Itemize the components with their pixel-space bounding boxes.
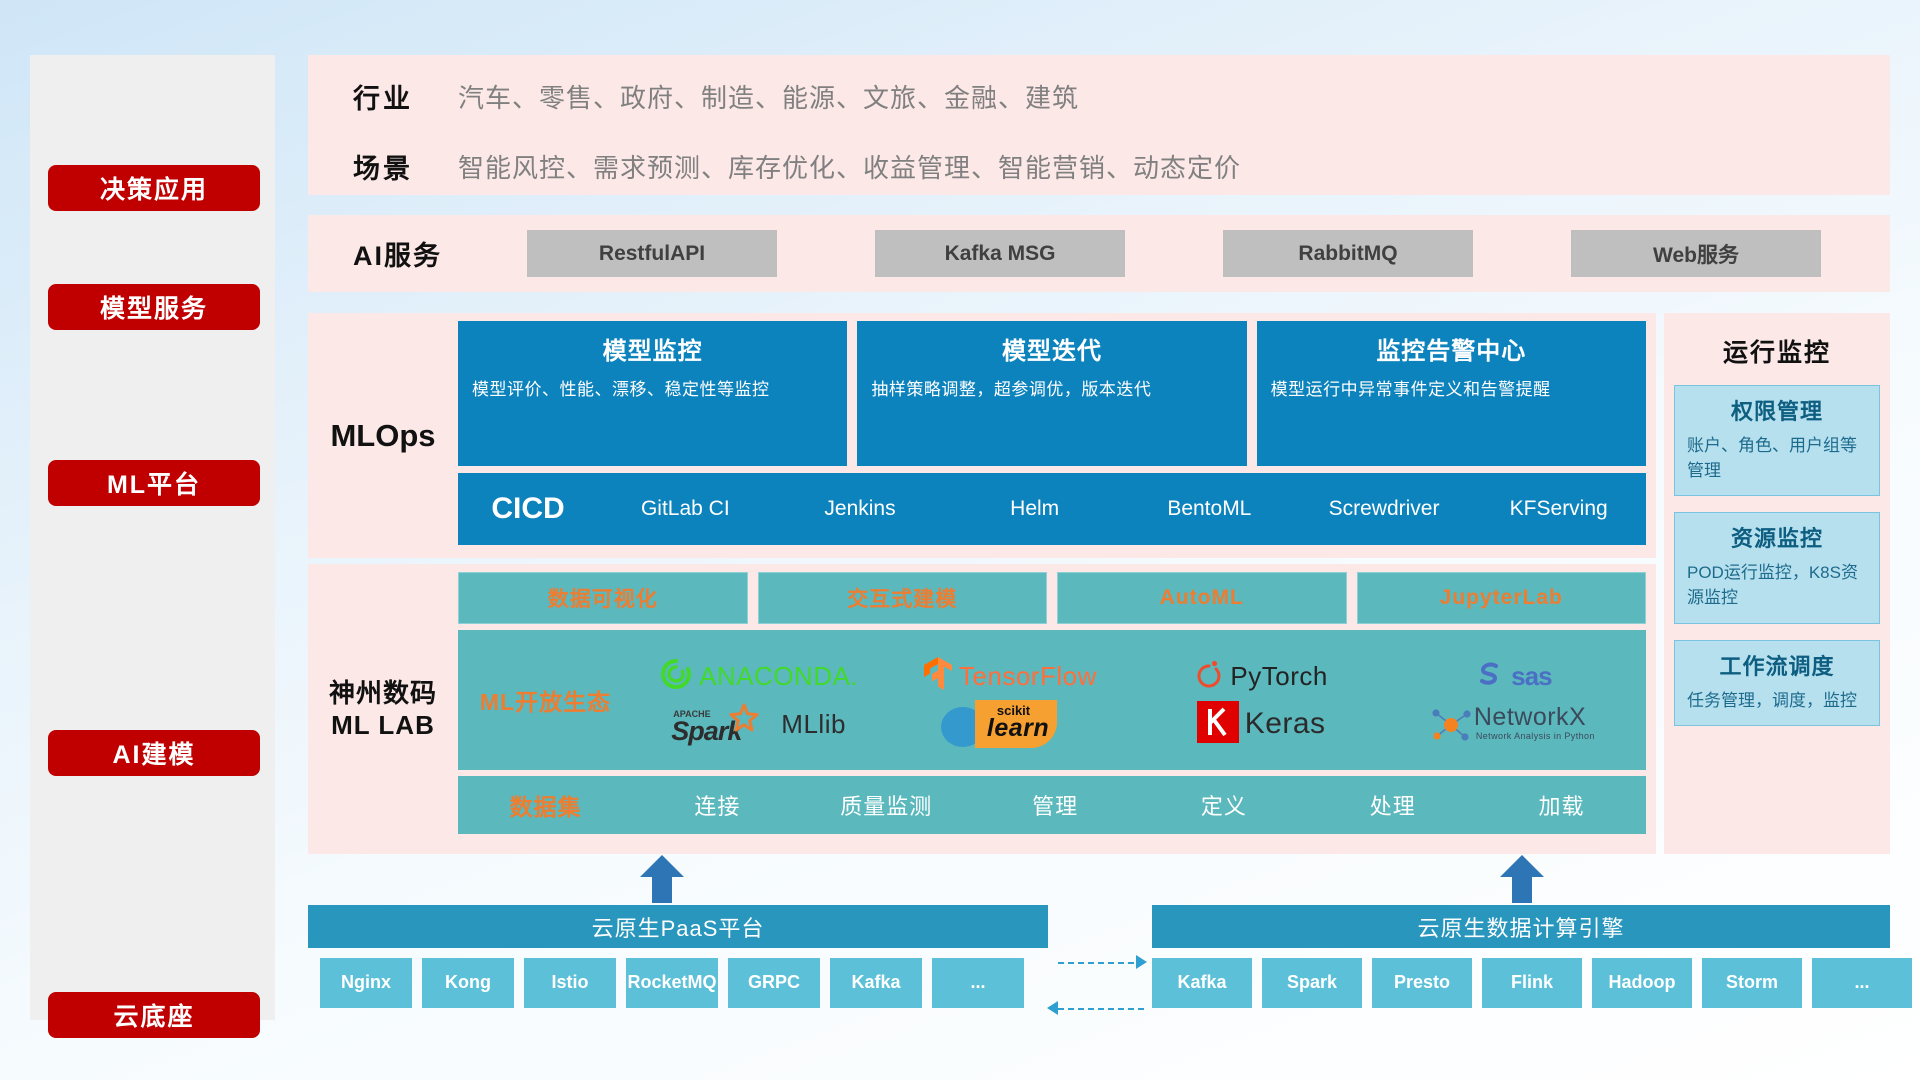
ml-lab-body: 数据可视化 交互式建模 AutoML JupyterLab ML开放生态: [458, 564, 1656, 854]
tensorflow-label: TensorFlow: [959, 661, 1097, 692]
rail-label: 模型服务: [100, 289, 208, 325]
mlops-label: MLOps: [308, 313, 458, 558]
tab-interactive-modeling[interactable]: 交互式建模: [758, 572, 1048, 624]
ml-lab-label-line2: ML LAB: [331, 709, 435, 742]
cloud-chip-nginx[interactable]: Nginx: [320, 958, 412, 1008]
mlops-card-list: 模型监控 模型评价、性能、漂移、稳定性等监控 模型迭代 抽样策略调整，超参调优，…: [458, 321, 1646, 466]
arrow-up-compute: [1500, 855, 1544, 903]
mllib-label: MLlib: [781, 709, 846, 740]
cloud-chip-more[interactable]: ...: [932, 958, 1024, 1008]
rail-label: 云底座: [113, 997, 194, 1033]
logo-networkx: NetworkX Network Analysis in Python: [1430, 701, 1595, 747]
dataset-item-quality[interactable]: 质量监测: [802, 789, 971, 821]
cloud-chip-kong[interactable]: Kong: [422, 958, 514, 1008]
ml-ecosystem-logo-grid: ANACONDA. TensorFlow: [633, 652, 1646, 748]
ai-service-chip-rabbitmq[interactable]: RabbitMQ: [1223, 230, 1473, 277]
cloud-compute-chip-row: Kafka Spark Presto Flink Hadoop Storm ..…: [1152, 958, 1912, 1008]
ml-lab-label: 神州数码 ML LAB: [308, 564, 458, 854]
dataset-item-define[interactable]: 定义: [1139, 789, 1308, 821]
card-title: 工作流调度: [1687, 649, 1867, 681]
cicd-item-jenkins[interactable]: Jenkins: [773, 492, 948, 526]
logo-keras: Keras: [1197, 701, 1326, 748]
cicd-item-list: GitLab CI Jenkins Helm BentoML Screwdriv…: [598, 492, 1646, 526]
cloud-chip-grpc[interactable]: GRPC: [728, 958, 820, 1008]
cicd-item-screwdriver[interactable]: Screwdriver: [1297, 492, 1472, 526]
cloud-compute-bar[interactable]: 云原生数据计算引擎: [1152, 905, 1890, 948]
ml-lab-label-line1: 神州数码: [329, 677, 437, 710]
cicd-item-kfserving[interactable]: KFServing: [1471, 492, 1646, 526]
pytorch-label: PyTorch: [1230, 661, 1327, 692]
ai-service-chip-web-service[interactable]: Web服务: [1571, 230, 1821, 277]
ai-service-chip-restfulapi[interactable]: RestfulAPI: [527, 230, 777, 277]
cicd-item-helm[interactable]: Helm: [947, 492, 1122, 526]
card-title: 权限管理: [1687, 394, 1867, 426]
tensorflow-icon: [923, 656, 953, 697]
logo-scikit-learn: scikit learn: [935, 700, 1085, 748]
dataset-item-load[interactable]: 加载: [1477, 789, 1646, 821]
ai-service-label: AI服务: [308, 234, 458, 273]
keras-label: Keras: [1245, 707, 1326, 741]
rail-label: ML平台: [107, 465, 201, 501]
card-title: 模型监控: [472, 331, 833, 366]
card-title: 监控告警中心: [1271, 331, 1632, 366]
cicd-row: CICD GitLab CI Jenkins Helm BentoML Scre…: [458, 473, 1646, 545]
arrow-up-paas: [640, 855, 684, 903]
anaconda-label: ANACONDA.: [699, 661, 858, 692]
compute-chip-spark[interactable]: Spark: [1262, 958, 1362, 1008]
industry-row: 行业 汽车、零售、政府、制造、能源、文旅、金融、建筑: [308, 61, 1890, 131]
learn-label: learn: [987, 714, 1049, 743]
monitor-card-workflow[interactable]: 工作流调度 任务管理，调度，监控: [1674, 640, 1880, 727]
architecture-diagram: 决策应用 模型服务 ML平台 AI建模 云底座 行业 汽车、零售、政府、制造、能…: [0, 0, 1920, 1080]
mlops-body: 模型监控 模型评价、性能、漂移、稳定性等监控 模型迭代 抽样策略调整，超参调优，…: [458, 313, 1656, 558]
dashed-arrow-left: [1047, 1001, 1058, 1015]
mlops-band: MLOps 模型监控 模型评价、性能、漂移、稳定性等监控 模型迭代 抽样策略调整…: [308, 313, 1656, 558]
compute-chip-kafka[interactable]: Kafka: [1152, 958, 1252, 1008]
card-desc: 任务管理，调度，监控: [1687, 689, 1867, 714]
cloud-chip-istio[interactable]: Istio: [524, 958, 616, 1008]
rail-item-ai-modeling[interactable]: AI建模: [48, 730, 260, 776]
dataset-row: 数据集 连接 质量监测 管理 定义 处理 加载: [458, 776, 1646, 834]
ml-lab-tab-list: 数据可视化 交互式建模 AutoML JupyterLab: [458, 572, 1646, 624]
ml-lab-band: 神州数码 ML LAB 数据可视化 交互式建模 AutoML JupyterLa…: [308, 564, 1656, 854]
dashed-connector-top: [1058, 962, 1144, 964]
scenario-row: 场景 智能风控、需求预测、库存优化、收益管理、智能营销、动态定价: [308, 131, 1890, 201]
cloud-chip-kafka[interactable]: Kafka: [830, 958, 922, 1008]
scenario-key: 场景: [308, 147, 458, 186]
compute-chip-hadoop[interactable]: Hadoop: [1592, 958, 1692, 1008]
mlops-card-alert-center[interactable]: 监控告警中心 模型运行中异常事件定义和告警提醒: [1257, 321, 1646, 466]
dataset-item-connect[interactable]: 连接: [633, 789, 802, 821]
rail-item-decision-app[interactable]: 决策应用: [48, 165, 260, 211]
networkx-label: NetworkX: [1474, 703, 1586, 732]
compute-chip-storm[interactable]: Storm: [1702, 958, 1802, 1008]
compute-chip-more[interactable]: ...: [1812, 958, 1912, 1008]
logo-spark-mllib: APACHE Spark MLlib: [671, 705, 846, 743]
logo-anaconda: ANACONDA.: [659, 657, 858, 696]
scenario-value: 智能风控、需求预测、库存优化、收益管理、智能营销、动态定价: [458, 148, 1241, 185]
card-desc: 账户、角色、用户组等管理: [1687, 434, 1867, 483]
tab-jupyterlab[interactable]: JupyterLab: [1357, 572, 1647, 624]
logo-pytorch: PyTorch: [1194, 657, 1327, 696]
monitor-card-resource[interactable]: 资源监控 POD运行监控，K8S资源监控: [1674, 512, 1880, 623]
dashed-connector-bottom: [1058, 1008, 1144, 1010]
mlops-card-model-monitoring[interactable]: 模型监控 模型评价、性能、漂移、稳定性等监控: [458, 321, 847, 466]
compute-chip-flink[interactable]: Flink: [1482, 958, 1582, 1008]
tab-data-visualization[interactable]: 数据可视化: [458, 572, 748, 624]
card-desc: POD运行监控，K8S资源监控: [1687, 561, 1867, 610]
pytorch-icon: [1194, 657, 1224, 696]
mlops-card-model-iteration[interactable]: 模型迭代 抽样策略调整，超参调优，版本迭代: [857, 321, 1246, 466]
cicd-title: CICD: [458, 492, 598, 526]
ml-ecosystem-label: ML开放生态: [458, 683, 633, 717]
dataset-item-manage[interactable]: 管理: [971, 789, 1140, 821]
keras-icon: [1197, 701, 1239, 748]
industry-scenario-band: 行业 汽车、零售、政府、制造、能源、文旅、金融、建筑 场景 智能风控、需求预测、…: [308, 55, 1890, 195]
card-desc: 抽样策略调整，超参调优，版本迭代: [871, 378, 1232, 403]
left-rail: 决策应用 模型服务 ML平台 AI建模 云底座: [30, 55, 275, 1020]
monitor-card-permission[interactable]: 权限管理 账户、角色、用户组等管理: [1674, 385, 1880, 496]
networkx-sublabel: Network Analysis in Python: [1476, 731, 1595, 741]
ai-service-chip-list: RestfulAPI Kafka MSG RabbitMQ Web服务: [458, 230, 1890, 277]
ai-service-band: AI服务 RestfulAPI Kafka MSG RabbitMQ Web服务: [308, 215, 1890, 292]
ai-service-chip-kafka-msg[interactable]: Kafka MSG: [875, 230, 1125, 277]
dataset-item-process[interactable]: 处理: [1308, 789, 1477, 821]
sas-label: sas: [1511, 661, 1551, 692]
ml-ecosystem-row: ML开放生态 ANACONDA.: [458, 630, 1646, 770]
rail-item-cloud-base[interactable]: 云底座: [48, 992, 260, 1038]
dashed-arrow-right: [1136, 955, 1147, 969]
rail-item-ml-platform[interactable]: ML平台: [48, 460, 260, 506]
industry-key: 行业: [308, 77, 458, 116]
rail-item-model-service[interactable]: 模型服务: [48, 284, 260, 330]
logo-sas: sas: [1473, 658, 1551, 695]
rail-label: 决策应用: [100, 170, 208, 206]
cicd-item-bentoml[interactable]: BentoML: [1122, 492, 1297, 526]
cloud-paas-chip-row: Nginx Kong Istio RocketMQ GRPC Kafka ...: [320, 958, 1024, 1008]
card-title: 资源监控: [1687, 521, 1867, 553]
logo-tensorflow: TensorFlow: [923, 656, 1097, 697]
cloud-chip-rocketmq[interactable]: RocketMQ: [626, 958, 718, 1008]
runtime-monitoring-title: 运行监控: [1674, 323, 1880, 385]
card-title: 模型迭代: [871, 331, 1232, 366]
card-desc: 模型评价、性能、漂移、稳定性等监控: [472, 378, 833, 403]
anaconda-icon: [659, 657, 693, 696]
dataset-label: 数据集: [458, 788, 633, 822]
compute-chip-presto[interactable]: Presto: [1372, 958, 1472, 1008]
industry-value: 汽车、零售、政府、制造、能源、文旅、金融、建筑: [458, 78, 1079, 115]
sas-icon: [1473, 658, 1505, 695]
cloud-paas-bar[interactable]: 云原生PaaS平台: [308, 905, 1048, 948]
tab-automl[interactable]: AutoML: [1057, 572, 1347, 624]
card-desc: 模型运行中异常事件定义和告警提醒: [1271, 378, 1632, 403]
cicd-item-gitlab-ci[interactable]: GitLab CI: [598, 492, 773, 526]
rail-label: AI建模: [112, 735, 195, 771]
runtime-monitoring-panel: 运行监控 权限管理 账户、角色、用户组等管理 资源监控 POD运行监控，K8S资…: [1664, 313, 1890, 854]
spark-icon: APACHE Spark: [671, 705, 775, 743]
dataset-item-list: 连接 质量监测 管理 定义 处理 加载: [633, 789, 1646, 821]
